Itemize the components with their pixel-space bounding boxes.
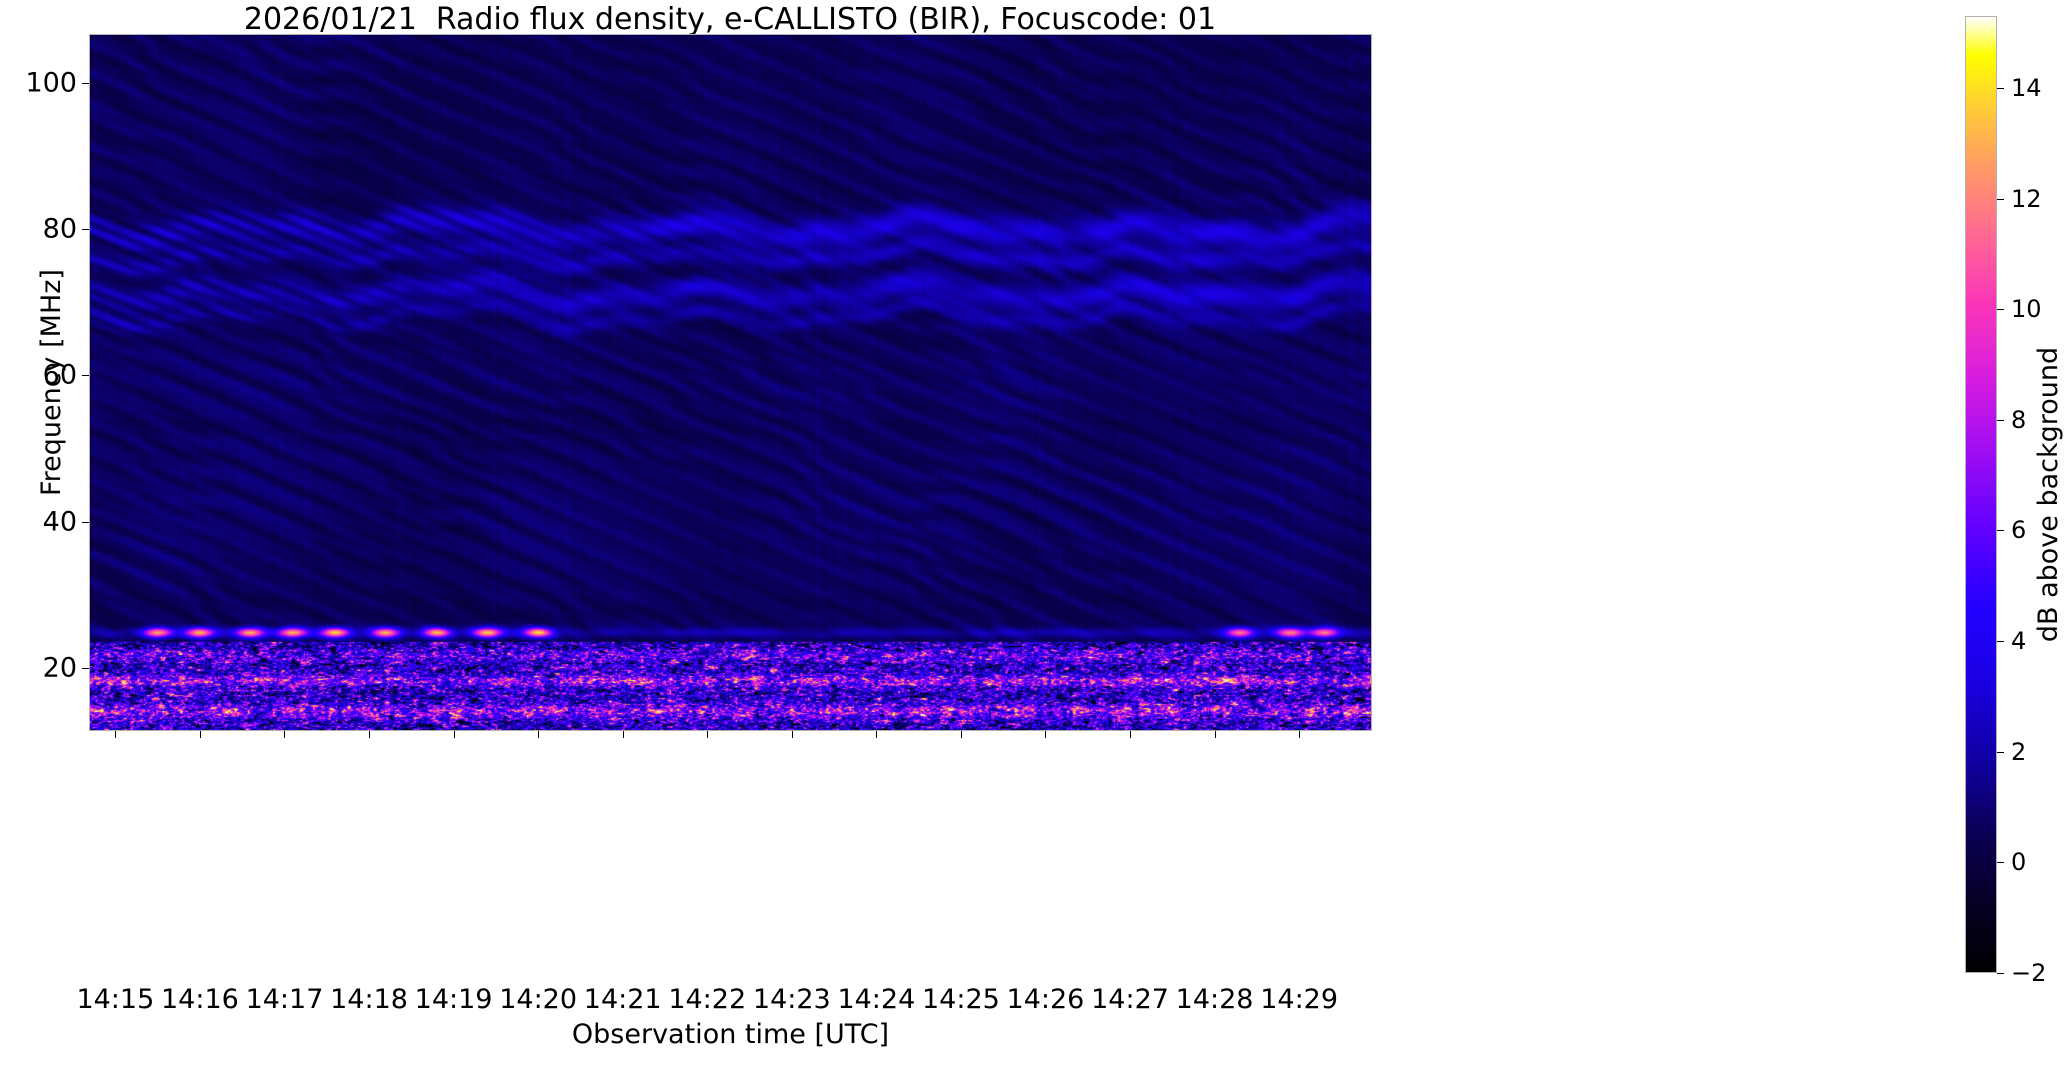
x-tick-mark (1045, 731, 1046, 738)
x-tick-mark (115, 731, 116, 738)
spectrogram-axes[interactable] (89, 34, 1372, 731)
colorbar-tick-mark (1997, 862, 2004, 863)
colorbar-tick-mark (1997, 420, 2004, 421)
y-tick-mark (82, 229, 89, 230)
spectrogram-figure: 2026/01/21 Radio flux density, e-CALLIST… (0, 0, 2066, 1067)
x-tick-mark (1215, 731, 1216, 738)
colorbar-tick-mark (1997, 641, 2004, 642)
colorbar-tick-mark (1997, 88, 2004, 89)
x-tick-mark (961, 731, 962, 738)
x-tick-mark (792, 731, 793, 738)
y-tick-mark (82, 522, 89, 523)
x-tick-mark (454, 731, 455, 738)
x-tick-mark (538, 731, 539, 738)
colorbar-tick-mark (1997, 199, 2004, 200)
x-tick-mark (369, 731, 370, 738)
colorbar-tick-mark (1997, 752, 2004, 753)
colorbar[interactable] (1965, 16, 1997, 973)
colorbar-label: dB above background (2032, 16, 2066, 973)
y-tick-label: 20 (0, 654, 77, 681)
x-tick-mark (707, 731, 708, 738)
x-tick-mark (1130, 731, 1131, 738)
y-tick-label: 80 (0, 215, 77, 242)
x-tick-mark (200, 731, 201, 738)
x-axis-label: Observation time [UTC] (89, 1019, 1372, 1050)
y-tick-label: 60 (0, 362, 77, 389)
spectrogram-image[interactable] (90, 35, 1371, 730)
x-tick-mark (876, 731, 877, 738)
y-tick-label: 40 (0, 508, 77, 535)
y-tick-label: 100 (0, 69, 77, 96)
y-tick-mark (82, 668, 89, 669)
colorbar-tick-mark (1997, 973, 2004, 974)
colorbar-tick-mark (1997, 530, 2004, 531)
y-tick-mark (82, 375, 89, 376)
colorbar-gradient (1966, 17, 1996, 972)
figure-title: 2026/01/21 Radio flux density, e-CALLIST… (0, 2, 1460, 37)
x-tick-mark (623, 731, 624, 738)
x-tick-label: 14:29 (1199, 986, 1399, 1013)
x-tick-mark (1299, 731, 1300, 738)
y-tick-mark (82, 83, 89, 84)
colorbar-tick-mark (1997, 309, 2004, 310)
x-tick-mark (284, 731, 285, 738)
